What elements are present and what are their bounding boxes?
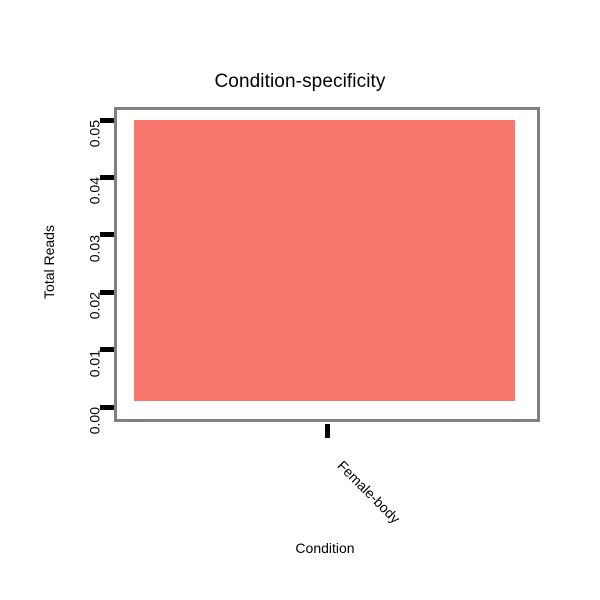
plot-inner: [117, 110, 537, 419]
x-tick-label-female-body: Female-body: [334, 457, 403, 526]
y-tick-mark-4: [100, 175, 114, 180]
y-tick-label-5: 0.05: [86, 120, 102, 147]
bar-female-body: [134, 120, 515, 401]
y-tick-mark-2: [100, 290, 114, 295]
y-tick-mark-3: [100, 232, 114, 237]
plot-area: [114, 107, 540, 422]
chart-canvas: Condition-specificity 0.00 0.01 0.02 0.0…: [0, 0, 600, 600]
y-tick-label-1: 0.01: [86, 350, 102, 377]
y-tick-label-0: 0.00: [86, 407, 102, 434]
y-tick-label-3: 0.03: [86, 235, 102, 262]
y-tick-mark-5: [100, 118, 114, 123]
x-axis-title: Condition: [0, 540, 600, 556]
y-tick-label-4: 0.04: [86, 177, 102, 204]
y-axis-title: Total Reads: [41, 225, 57, 299]
y-tick-label-2: 0.02: [86, 292, 102, 319]
chart-title: Condition-specificity: [0, 71, 600, 93]
y-tick-mark-1: [100, 347, 114, 352]
x-tick-mark-0: [325, 424, 330, 438]
y-tick-mark-0: [100, 405, 114, 410]
